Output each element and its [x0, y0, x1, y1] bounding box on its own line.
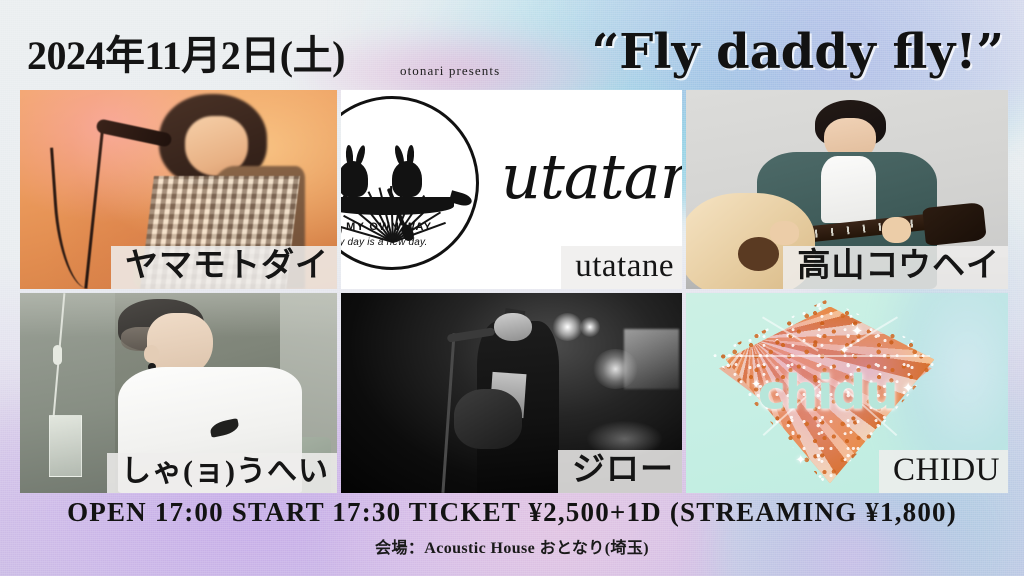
artist-panel-chidu: ✦ ✦ ✦ ✦ ✦ chidu CHIDU	[686, 293, 1008, 493]
soundhole-shape	[738, 237, 780, 271]
gem-facet-line	[726, 355, 930, 357]
venue-info: 会場：Acoustic House おとなり(埼玉)	[0, 534, 1024, 558]
sparkle-icon: ✦	[839, 344, 849, 356]
artist-panel-jiro: ジロー	[341, 293, 682, 493]
sparkle-icon: ✦	[795, 453, 806, 466]
artist-grid: ヤマモトダイ	[20, 90, 1004, 493]
guitar-body-shape	[454, 389, 522, 449]
flyer-header: 2024年11月2日(土) otonari presents “Fly dadd…	[0, 0, 1024, 90]
left-hand-shape	[770, 221, 799, 245]
hanging-lamp-shape	[49, 415, 83, 477]
logo-tagline-bottom: Every day is a new day.	[341, 237, 427, 248]
artist-name-label: CHIDU	[879, 450, 1008, 493]
stage-spotlight-1	[552, 313, 583, 341]
right-hand-shape	[882, 217, 911, 243]
artist-name-label: しゃ(ョ)うへい	[107, 453, 337, 493]
stage-spotlight-2	[580, 317, 600, 337]
artist-panel-yamamoto-dai: ヤマモトダイ	[20, 90, 337, 289]
event-details: OPEN 17:00 START 17:30 TICKET ¥2,500+1D …	[0, 497, 1024, 528]
stage-banner-shape	[624, 329, 679, 389]
artist-name-label: utatane	[561, 246, 682, 289]
cord-knob-shape	[53, 345, 62, 365]
utatane-logo-badge: GO MY OWN WAY Every day is a new day.	[341, 96, 479, 270]
artist-name-label: 高山コウヘイ	[783, 246, 1008, 289]
flyer-footer: OPEN 17:00 START 17:30 TICKET ¥2,500+1D …	[0, 493, 1024, 576]
rabbit-silhouette-right-icon	[392, 161, 422, 197]
presenter-label: otonari presents	[400, 63, 500, 79]
artist-name-label: ヤマモトダイ	[111, 246, 337, 289]
utatane-wordmark: utatane	[501, 146, 682, 208]
artist-panel-shouhei: しゃ(ョ)うへい	[20, 293, 337, 493]
artist-panel-utatane: GO MY OWN WAY Every day is a new day. ut…	[341, 90, 682, 289]
chidu-artwork-wordmark: chidu	[758, 366, 898, 421]
sparkle-icon: ✦	[751, 378, 761, 390]
head-shape	[494, 313, 532, 341]
headstock-shape	[922, 202, 987, 246]
artist-panel-takayama-kouhei: 高山コウヘイ	[686, 90, 1008, 289]
concert-flyer: 2024年11月2日(土) otonari presents “Fly dadd…	[0, 0, 1024, 576]
sparkle-icon: ✦	[902, 382, 915, 397]
event-date: 2024年11月2日(土)	[27, 36, 345, 76]
logo-tagline-top: GO MY OWN WAY	[341, 221, 432, 233]
sparkle-icon: ✦	[851, 325, 864, 340]
event-title: “Fly daddy fly!”	[592, 27, 1004, 77]
tshirt-shape	[821, 156, 876, 224]
artist-name-label: ジロー	[558, 450, 682, 493]
